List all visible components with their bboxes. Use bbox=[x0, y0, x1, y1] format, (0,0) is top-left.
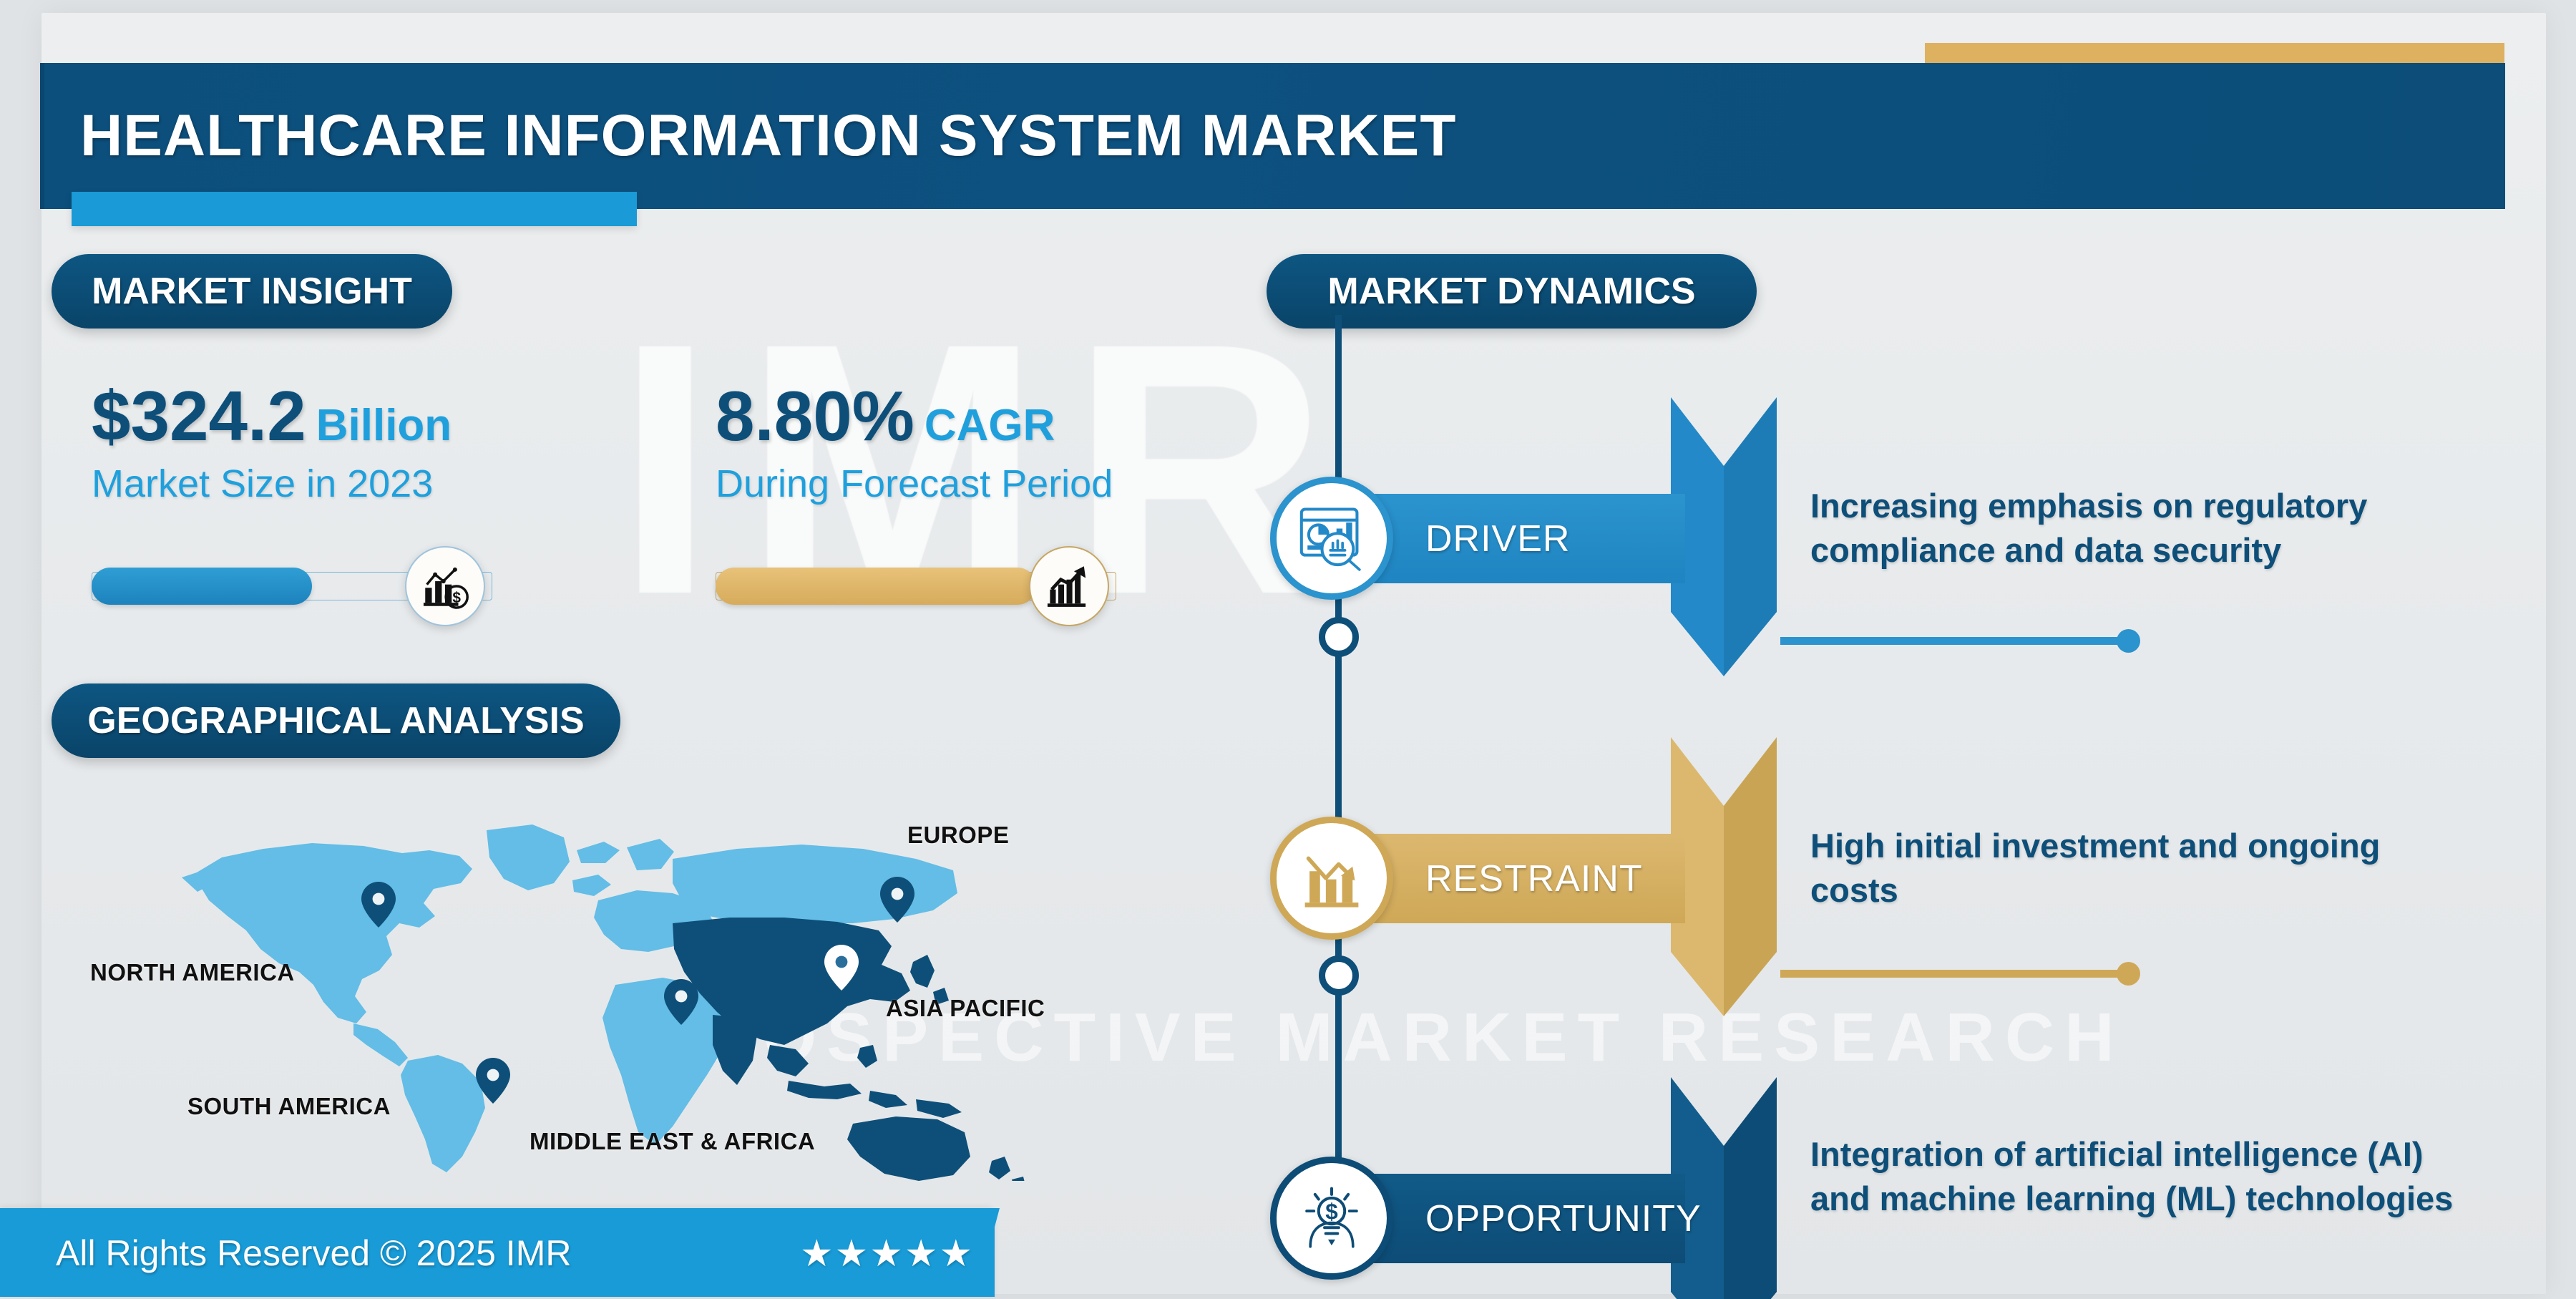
cagr-unit: CAGR bbox=[924, 401, 1055, 450]
copyright-text: All Rights Reserved © 2025 IMR bbox=[56, 1232, 571, 1274]
market-size-caption: Market Size in 2023 bbox=[92, 462, 635, 506]
dynamics-item-restraint: RESTRAINT High initial investment a bbox=[1267, 755, 2547, 998]
cagr-progress bbox=[716, 555, 1116, 618]
cagr-caption: During Forecast Period bbox=[716, 462, 1259, 506]
bar-chart-dollar-icon: $ bbox=[405, 546, 485, 626]
map-pin-south-america bbox=[476, 1058, 510, 1107]
opportunity-label: OPPORTUNITY bbox=[1425, 1197, 1702, 1240]
section-tag-geographical-analysis: GEOGRAPHICAL ANALYSIS bbox=[52, 683, 620, 758]
svg-text:$: $ bbox=[452, 590, 461, 606]
declining-bar-chart-icon bbox=[1270, 817, 1393, 940]
map-label-south-america: SOUTH AMERICA bbox=[187, 1093, 391, 1120]
market-size-metric: $324.2Billion Market Size in 2023 bbox=[92, 379, 635, 506]
header-cyan-accent bbox=[72, 192, 637, 226]
infographic-canvas: IMR PROSPECTIVE MARKET RESEARCH HEALTHCA… bbox=[0, 0, 2576, 1299]
restraint-ribbon-arrow bbox=[1671, 737, 1777, 1016]
market-size-value-row: $324.2Billion bbox=[92, 379, 635, 453]
restraint-label: RESTRAINT bbox=[1425, 857, 1643, 900]
rating-stars: ★★★★★ bbox=[800, 1232, 974, 1275]
opportunity-text: Integration of artificial intelligence (… bbox=[1810, 1132, 2476, 1221]
growth-arrow-chart-icon bbox=[1029, 546, 1109, 626]
lightbulb-dollar-icon: $ bbox=[1270, 1157, 1393, 1280]
map-pin-north-america bbox=[361, 882, 396, 931]
map-label-europe: EUROPE bbox=[907, 822, 1009, 849]
driver-text: Increasing emphasis on regulatory compli… bbox=[1810, 484, 2476, 573]
cagr-progress-fill bbox=[716, 568, 1036, 605]
dynamics-item-opportunity: OPPORTUNITY $ bbox=[1267, 1095, 2547, 1299]
driver-leader-line bbox=[1780, 637, 2131, 645]
market-size-progress-fill bbox=[92, 568, 312, 605]
market-size-value: $324.2 bbox=[92, 376, 306, 455]
map-pin-asia-pacific bbox=[824, 945, 859, 994]
cagr-value: 8.80% bbox=[716, 376, 914, 455]
map-pin-europe bbox=[880, 877, 914, 926]
restraint-leader-line bbox=[1780, 970, 2131, 978]
driver-label: DRIVER bbox=[1425, 517, 1570, 560]
market-size-unit: Billion bbox=[316, 401, 452, 450]
footer-bar: All Rights Reserved © 2025 IMR ★★★★★ bbox=[0, 1208, 995, 1297]
market-size-progress: $ bbox=[92, 555, 492, 618]
cagr-value-row: 8.80%CAGR bbox=[716, 379, 1259, 453]
section-tag-market-insight: MARKET INSIGHT bbox=[52, 254, 452, 329]
restraint-leader-dot bbox=[2117, 962, 2140, 986]
map-label-asia-pacific: ASIA PACIFIC bbox=[886, 995, 1045, 1022]
dashboard-analytics-magnifier-icon bbox=[1270, 477, 1393, 600]
map-label-middle-east-africa: MIDDLE EAST & AFRICA bbox=[530, 1128, 815, 1155]
map-label-north-america: NORTH AMERICA bbox=[90, 959, 295, 986]
driver-ribbon-arrow bbox=[1671, 397, 1777, 676]
svg-text:$: $ bbox=[1325, 1200, 1338, 1225]
dynamics-item-driver: DRIVER bbox=[1267, 415, 2547, 658]
cagr-metric: 8.80%CAGR During Forecast Period bbox=[716, 379, 1259, 506]
section-tag-label: MARKET INSIGHT bbox=[92, 270, 412, 313]
section-tag-label: MARKET DYNAMICS bbox=[1327, 270, 1695, 313]
page-title: HEALTHCARE INFORMATION SYSTEM MARKET bbox=[80, 86, 2370, 186]
section-tag-label: GEOGRAPHICAL ANALYSIS bbox=[87, 699, 584, 742]
driver-leader-dot bbox=[2117, 629, 2140, 653]
market-dynamics-timeline: DRIVER bbox=[1267, 315, 2547, 1267]
restraint-text: High initial investment and ongoing cost… bbox=[1810, 824, 2476, 913]
map-pin-middle-east-africa bbox=[664, 979, 698, 1028]
opportunity-ribbon-arrow bbox=[1671, 1077, 1777, 1299]
